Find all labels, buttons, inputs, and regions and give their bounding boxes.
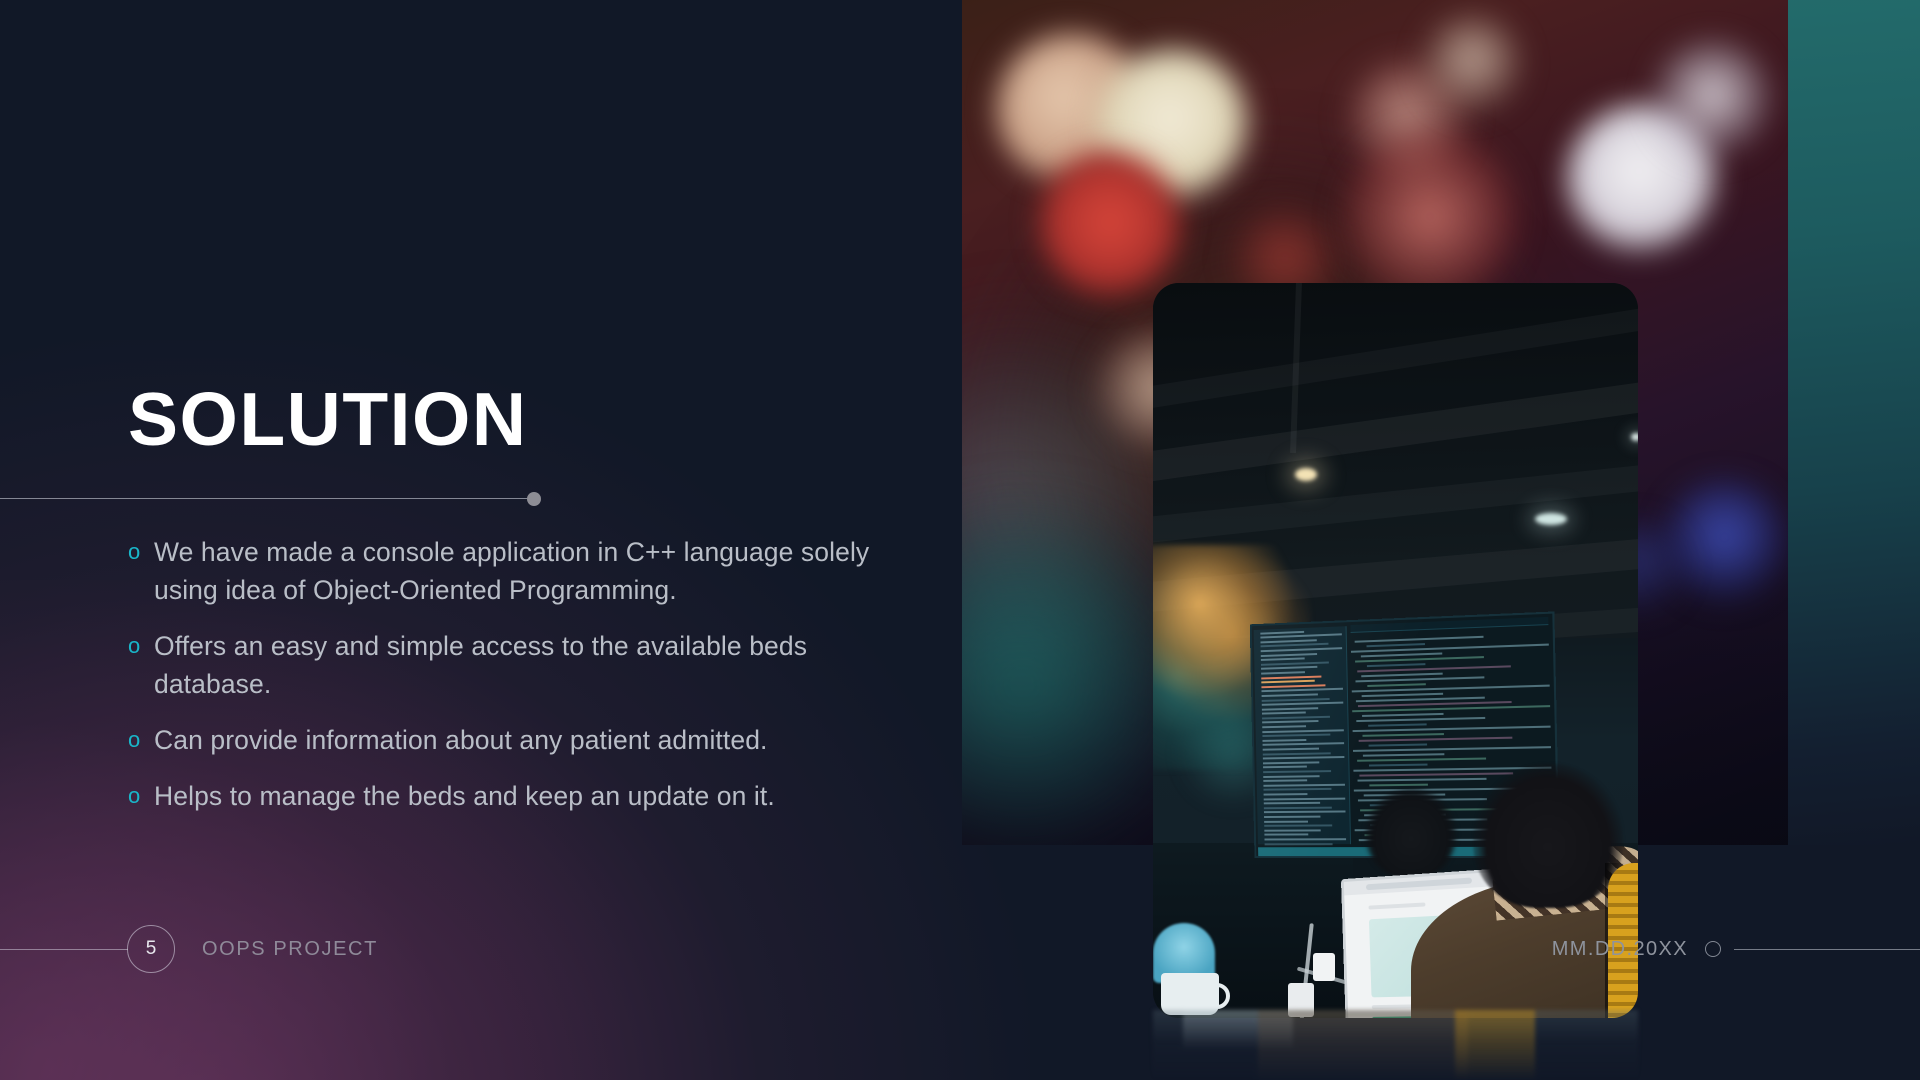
bullet-text: Can provide information about any patien…	[154, 721, 768, 759]
bokeh-light-7	[1422, 15, 1522, 115]
person-head	[1473, 763, 1623, 908]
bokeh-light-1	[997, 34, 1147, 184]
bokeh-light-2	[1097, 50, 1249, 202]
reflection-chair	[1455, 1010, 1535, 1080]
bullet-marker-icon: o	[128, 627, 154, 664]
bokeh-light-3	[1040, 150, 1180, 300]
photo-reflection	[1153, 1010, 1638, 1080]
list-item: o Can provide information about any pati…	[128, 721, 908, 759]
bokeh-light-8	[1567, 105, 1717, 255]
page-number-badge: 5	[127, 925, 175, 973]
bullet-list: o We have made a console application in …	[128, 533, 908, 815]
laptop-text-line-top	[1368, 902, 1425, 909]
developer-at-desk-photo	[1153, 283, 1638, 1018]
bullet-text: We have made a console application in C+…	[154, 533, 908, 609]
ceiling-light-2	[1535, 513, 1567, 525]
reflection-person	[1258, 1010, 1468, 1080]
ceiling-light-3	[1631, 433, 1638, 441]
bullet-marker-icon: o	[128, 533, 154, 570]
power-adapter-2	[1313, 953, 1335, 981]
bokeh-teal-haze-2	[962, 300, 1162, 720]
list-item: o We have made a console application in …	[128, 533, 908, 609]
page-title: SOLUTION	[128, 382, 528, 457]
footer-circle-right	[1705, 941, 1721, 957]
background-person-head	[1365, 788, 1457, 880]
title-divider-line	[0, 498, 536, 499]
content-column: SOLUTION o We have made a console applic…	[0, 0, 960, 1080]
bokeh-light-10	[1662, 480, 1787, 605]
ceiling-light-1	[1295, 468, 1317, 481]
title-divider-dot	[527, 492, 541, 506]
footer-date: MM.DD.20XX	[1552, 938, 1688, 961]
footer-line-right	[1734, 949, 1920, 950]
bullet-marker-icon: o	[128, 777, 154, 814]
slide-canvas: SOLUTION o We have made a console applic…	[0, 0, 1920, 1080]
footer-project-label: OOPS PROJECT	[202, 938, 378, 961]
bokeh-light-9	[1652, 40, 1772, 160]
list-item: o Offers an easy and simple access to th…	[128, 627, 908, 703]
bullet-marker-icon: o	[128, 721, 154, 758]
list-item: o Helps to manage the beds and keep an u…	[128, 777, 908, 815]
bullet-text: Helps to manage the beds and keep an upd…	[154, 777, 775, 815]
foreground-photo-frame	[1153, 283, 1638, 1018]
bullet-text: Offers an easy and simple access to the …	[154, 627, 908, 703]
coffee-mug	[1161, 973, 1219, 1015]
bokeh-light-5	[1347, 60, 1467, 180]
footer-line-left	[0, 949, 128, 950]
